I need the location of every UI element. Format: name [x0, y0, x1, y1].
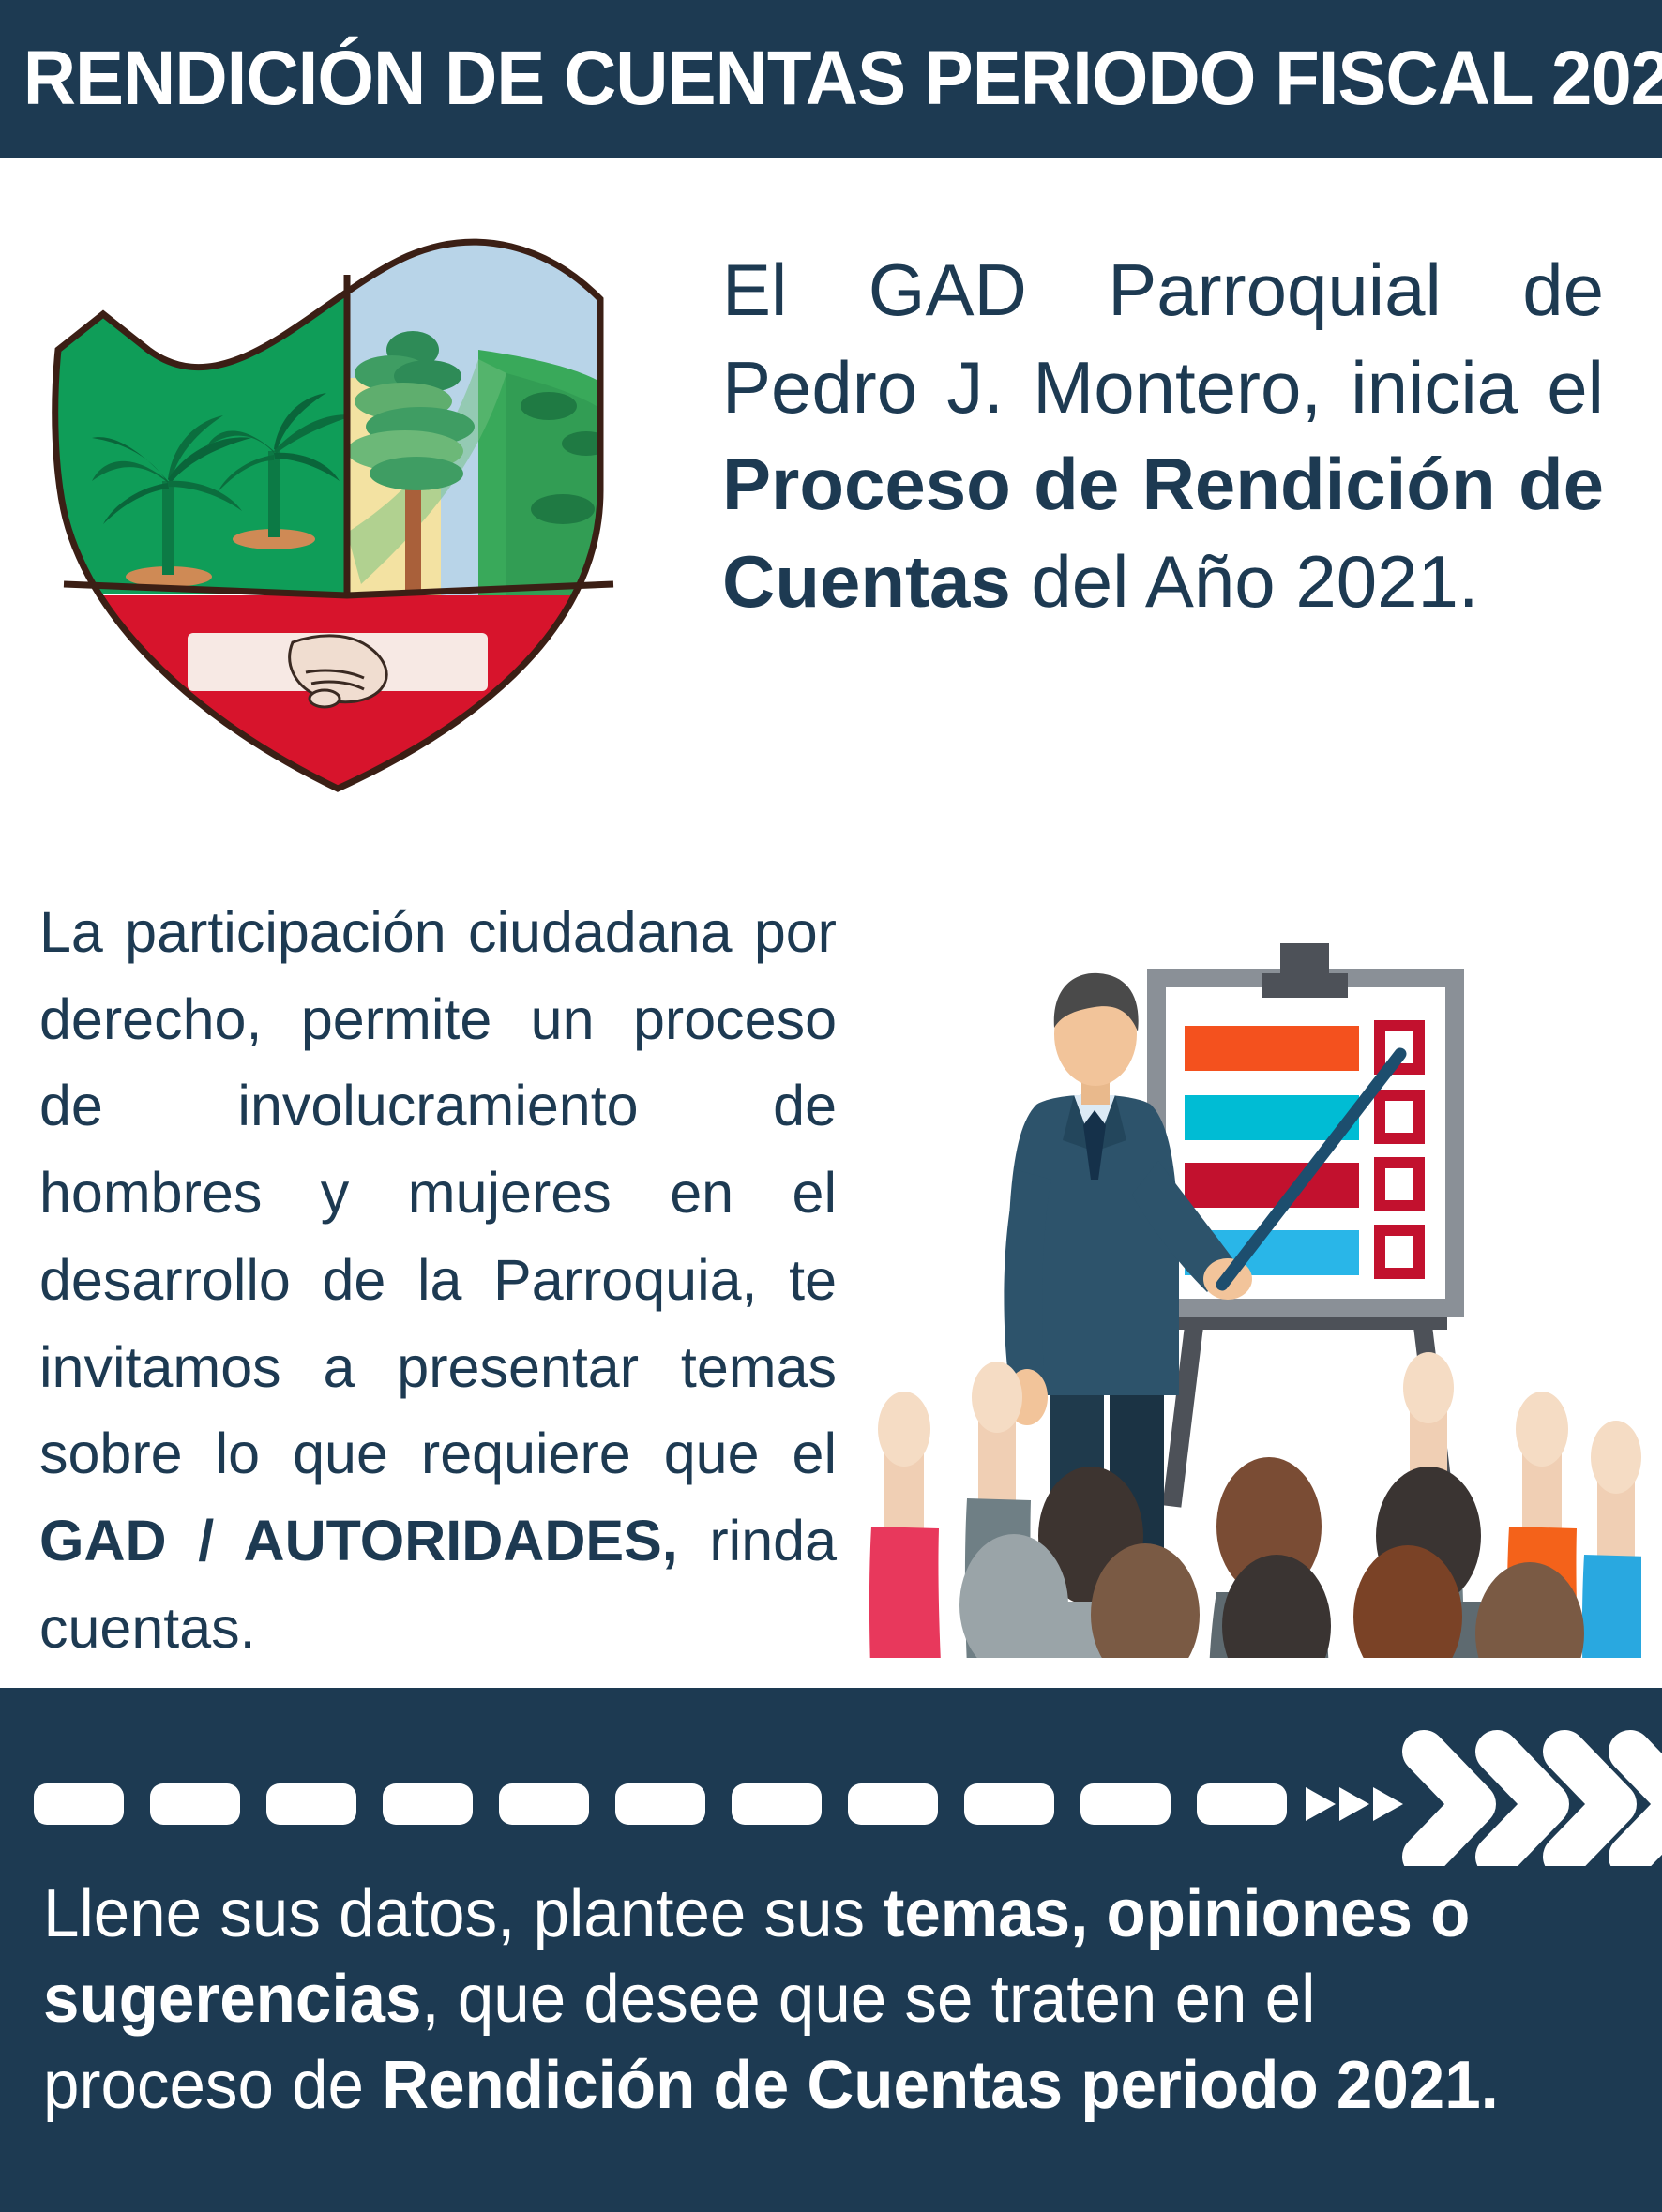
intro-part1: El GAD Parroquial de Pedro J. Montero, i… — [722, 248, 1604, 429]
footer-line2-a: sugerencias — [43, 1962, 421, 2037]
chevron-arrows — [1424, 1752, 1662, 1857]
footer-paragraph: Llene sus datos, plantee sus temas, opin… — [43, 1872, 1564, 2129]
footer-line-1: Llene sus datos, plantee sus temas, opin… — [43, 1872, 1564, 1957]
bar-crimson — [1185, 1163, 1359, 1208]
arrow-progress-icon — [0, 1725, 1662, 1866]
footer-line2-b: , que desee que se traten en el — [421, 1962, 1315, 2037]
dashed-arrow-strip — [0, 1725, 1662, 1866]
middle-bold1: GAD / AUTORIDADES, — [39, 1509, 678, 1572]
middle-part1: La participación ciudadana por derecho, … — [39, 900, 837, 1485]
footer-band: Llene sus datos, plantee sus temas, opin… — [0, 1688, 1662, 2212]
header-band: RENDICIÓN DE CUENTAS PERIODO FISCAL 2021 — [0, 0, 1662, 158]
footer-line3-a: proceso de — [43, 2048, 382, 2123]
small-triangles — [1306, 1787, 1403, 1821]
presenter-audience-illustration — [849, 870, 1641, 1658]
footer-line-3: proceso de Rendición de Cuentas periodo … — [43, 2043, 1564, 2129]
shield-body: GNRAL. PEDRO. J. MONTERO — [38, 209, 619, 819]
poster-root: RENDICIÓN DE CUENTAS PERIODO FISCAL 2021 — [0, 0, 1662, 2212]
shield-icon: GNRAL. PEDRO. J. MONTERO — [38, 209, 619, 819]
intro-paragraph: El GAD Parroquial de Pedro J. Montero, i… — [722, 242, 1604, 631]
footer-line-2: sugerencias, que desee que se traten en … — [43, 1957, 1564, 2042]
footer-line1-b: temas, opiniones o — [883, 1876, 1470, 1951]
intro-part2: del Año 2021. — [1011, 540, 1479, 623]
dash-segments — [34, 1783, 1287, 1825]
coat-of-arms-emblem: GNRAL. PEDRO. J. MONTERO — [38, 209, 619, 819]
green-quarter — [38, 209, 356, 612]
top-section: GNRAL. PEDRO. J. MONTERO El GAD Parroqui… — [0, 158, 1662, 851]
footer-line3-b: Rendición de Cuentas periodo 2021. — [382, 2048, 1499, 2123]
participation-paragraph: La participación ciudadana por derecho, … — [39, 889, 837, 1671]
presentation-illustration — [849, 870, 1641, 1658]
page-title: RENDICIÓN DE CUENTAS PERIODO FISCAL 2021 — [0, 40, 1662, 117]
bar-orange — [1185, 1026, 1359, 1071]
middle-section: La participación ciudadana por derecho, … — [0, 851, 1662, 1688]
footer-line1-a: Llene sus datos, plantee sus — [43, 1876, 883, 1951]
